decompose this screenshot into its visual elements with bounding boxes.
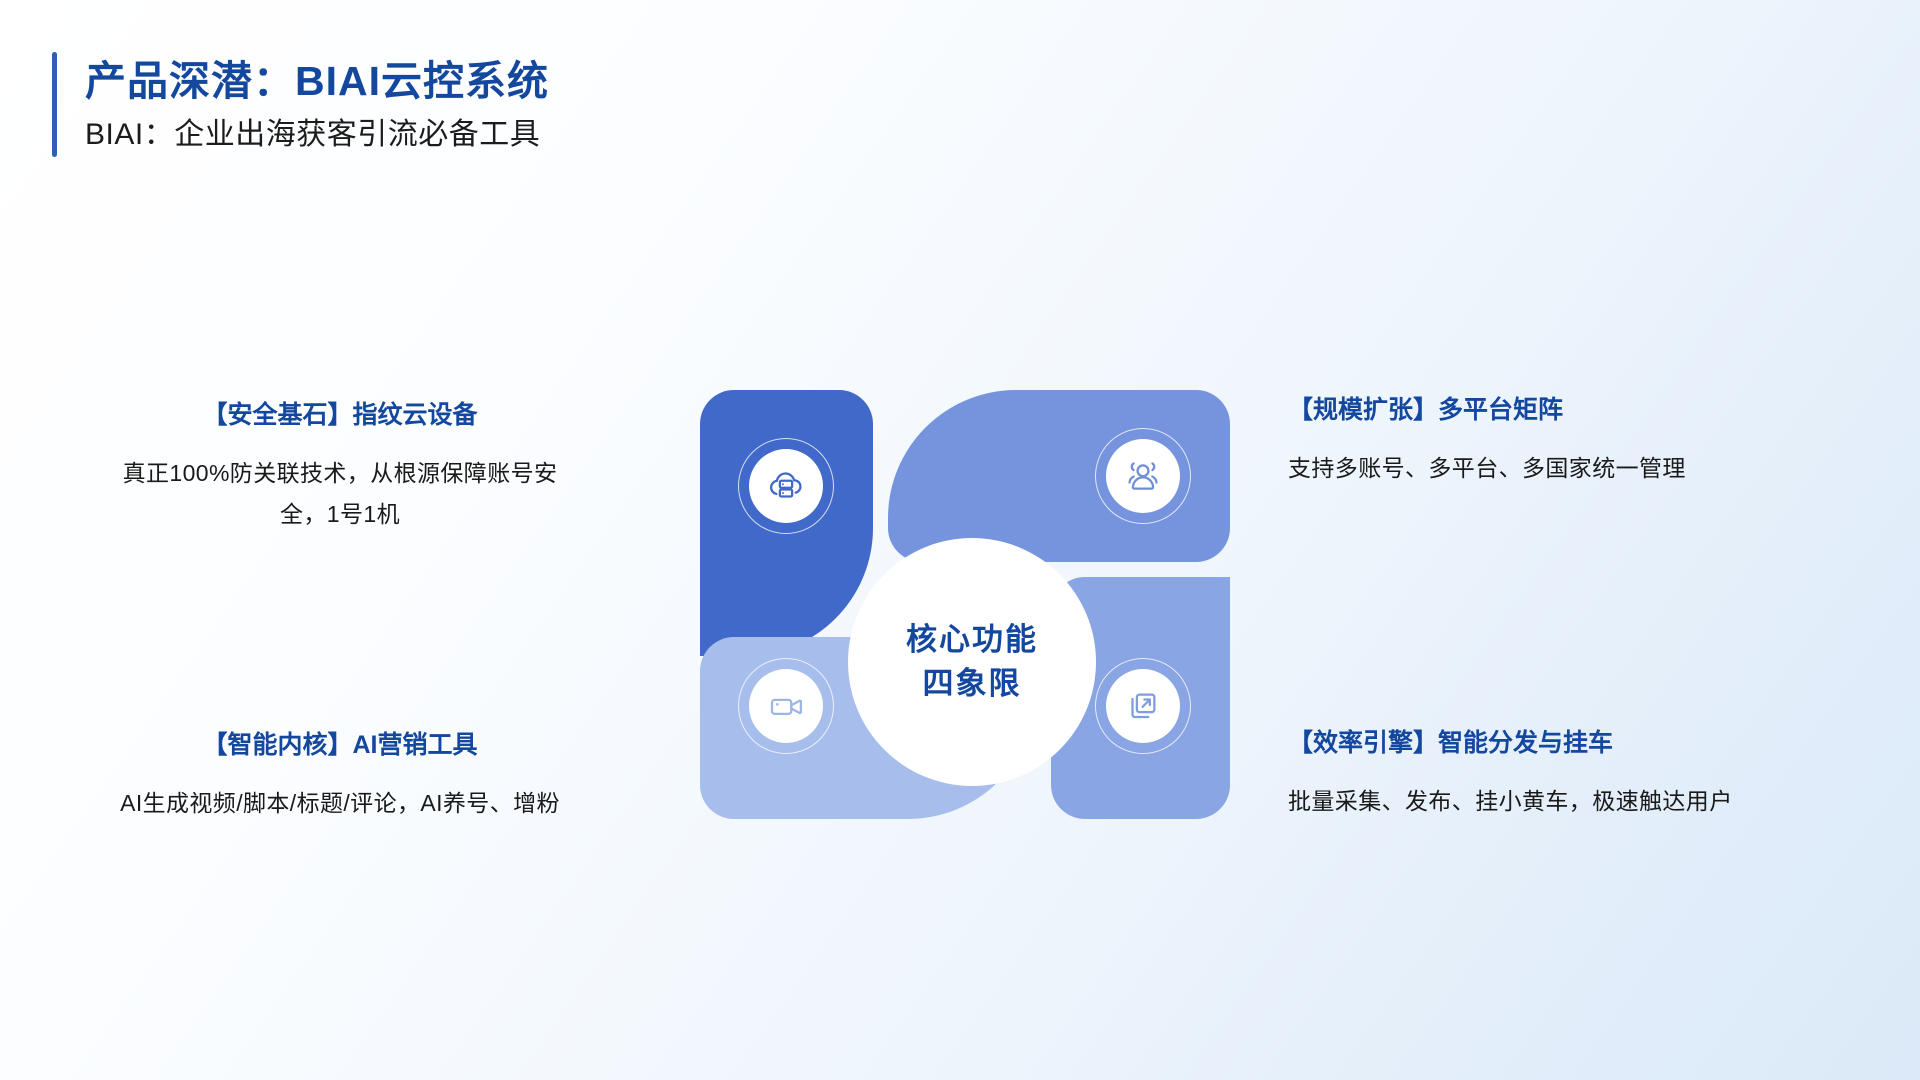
quadrant-title-top-right: 【规模扩张】多平台矩阵: [1288, 395, 1758, 426]
quadrant-desc-top-right: 支持多账号、多平台、多国家统一管理: [1288, 448, 1758, 489]
header-accent-bar: [52, 52, 57, 157]
page-title: 产品深潜：BIAI云控系统: [85, 56, 549, 106]
quadrant-desc-bottom-left: AI生成视频/脚本/标题/评论，AI养号、增粉: [105, 783, 575, 824]
external-share-icon[interactable]: [1106, 669, 1180, 743]
header-text-group: 产品深潜：BIAI云控系统 BIAI：企业出海获客引流必备工具: [85, 52, 549, 157]
center-label-line2: 四象限: [923, 662, 1022, 706]
quadrant-desc-bottom-right: 批量采集、发布、挂小黄车，极速触达用户: [1288, 781, 1758, 822]
quadrant-desc-top-left: 真正100%防关联技术，从根源保障账号安全，1号1机: [105, 453, 575, 535]
quadrant-text-bottom-left: 【智能内核】AI营销工具 AI生成视频/脚本/标题/评论，AI养号、增粉: [105, 730, 575, 824]
page-subtitle: BIAI：企业出海获客引流必备工具: [85, 117, 549, 153]
icon-slot-bottom-left[interactable]: [738, 658, 834, 754]
quadrant-text-top-right: 【规模扩张】多平台矩阵 支持多账号、多平台、多国家统一管理: [1288, 395, 1758, 489]
core-function-quadrant-diagram: 核心功能 四象限: [700, 390, 1230, 940]
icon-slot-top-right[interactable]: [1095, 428, 1191, 524]
quadrant-title-bottom-right: 【效率引擎】智能分发与挂车: [1288, 728, 1758, 759]
icon-slot-bottom-right[interactable]: [1095, 658, 1191, 754]
quadrant-title-top-left: 【安全基石】指纹云设备: [105, 400, 575, 431]
users-group-icon[interactable]: [1106, 439, 1180, 513]
video-camera-icon[interactable]: [749, 669, 823, 743]
cloud-server-icon[interactable]: [749, 449, 823, 523]
center-label-circle: 核心功能 四象限: [848, 538, 1096, 786]
quadrant-text-bottom-right: 【效率引擎】智能分发与挂车 批量采集、发布、挂小黄车，极速触达用户: [1288, 728, 1758, 822]
quadrant-title-bottom-left: 【智能内核】AI营销工具: [105, 730, 575, 761]
quadrant-text-top-left: 【安全基石】指纹云设备 真正100%防关联技术，从根源保障账号安全，1号1机: [105, 400, 575, 535]
center-label-line1: 核心功能: [906, 618, 1038, 662]
page-header: 产品深潜：BIAI云控系统 BIAI：企业出海获客引流必备工具: [52, 52, 549, 157]
icon-slot-top-left[interactable]: [738, 438, 834, 534]
